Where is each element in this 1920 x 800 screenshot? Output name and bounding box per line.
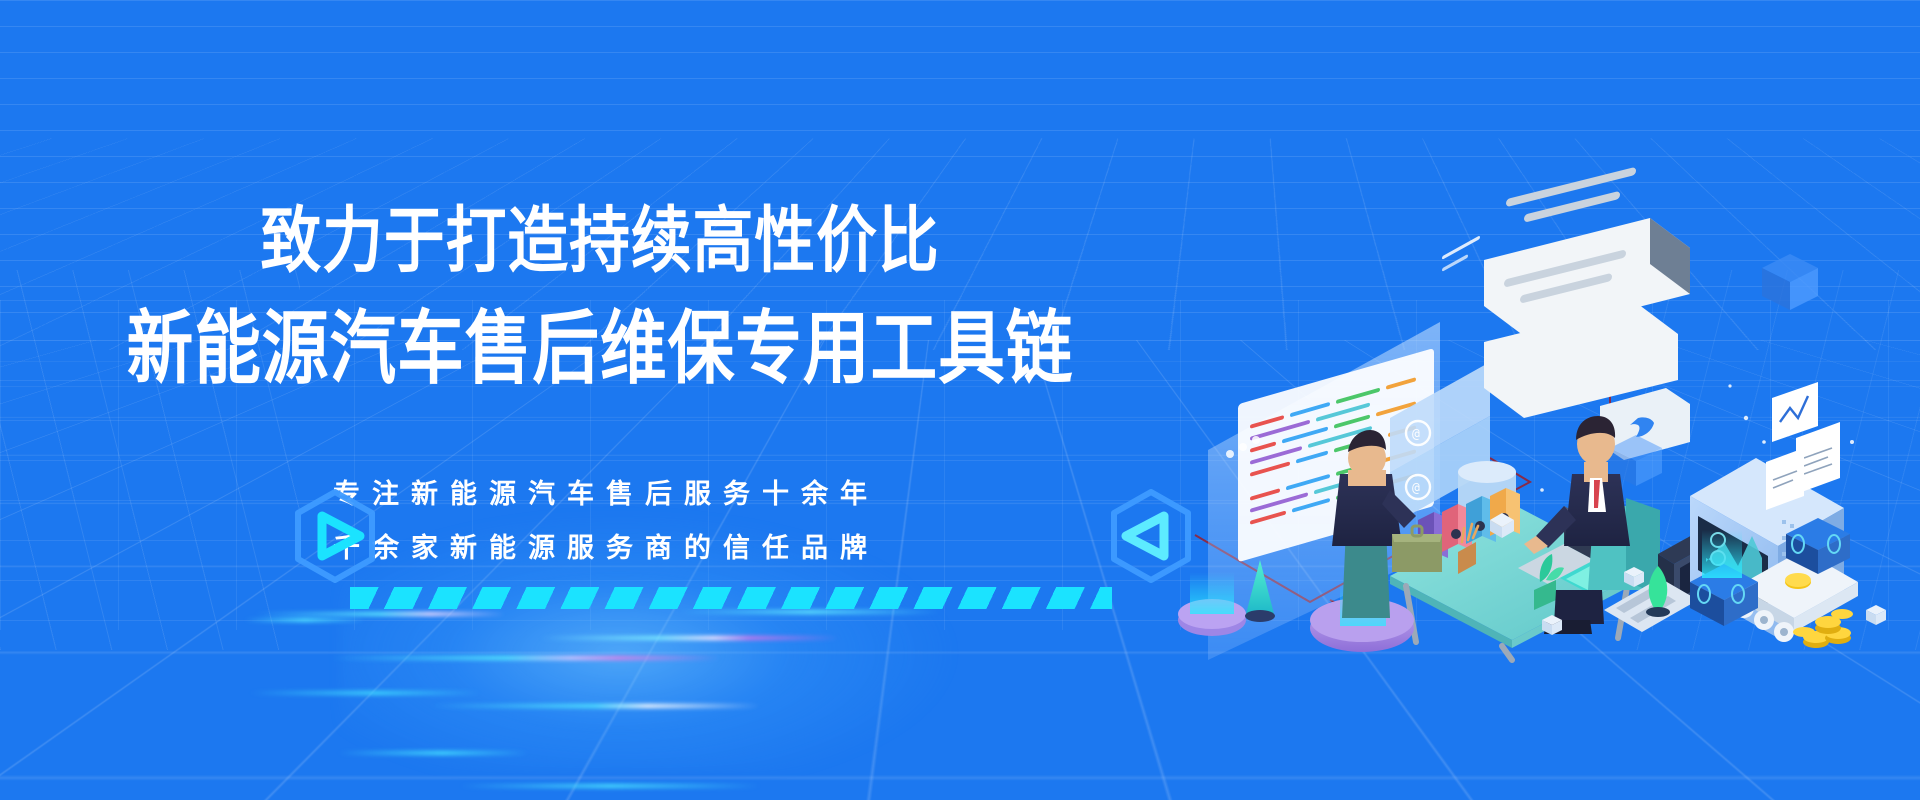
chat-bubble-card-1 bbox=[1484, 167, 1690, 336]
light-streak bbox=[338, 751, 528, 755]
play-triangle-hexagon-mirrored-icon bbox=[1108, 488, 1194, 584]
subtitle-line-2: 千余家新能源服务商的信任品牌 bbox=[0, 532, 1200, 566]
light-streak bbox=[540, 636, 840, 640]
headline-line-2: 新能源汽车售后维保专用工具链 bbox=[12, 305, 1188, 395]
light-streak bbox=[430, 704, 760, 708]
headline-line-1: 致力于打造持续高性价比 bbox=[12, 200, 1188, 281]
light-streak bbox=[255, 612, 505, 616]
hero-banner: 致力于打造持续高性价比 新能源汽车售后维保专用工具链 专注新能源汽车售后服务十余… bbox=[0, 0, 1920, 800]
subtitle-line-1: 专注新能源汽车售后服务十余年 bbox=[0, 478, 1200, 512]
play-triangle-hexagon-icon bbox=[292, 488, 378, 584]
diagonal-stripe-ribbon bbox=[350, 587, 1112, 609]
floating-cube bbox=[1866, 605, 1886, 625]
light-streak bbox=[330, 656, 720, 660]
light-streak bbox=[680, 610, 940, 614]
light-streak bbox=[250, 691, 480, 695]
svg-text:@: @ bbox=[1412, 481, 1420, 496]
light-streak bbox=[460, 784, 760, 788]
floating-cube bbox=[1762, 254, 1818, 310]
svg-text:@: @ bbox=[1412, 427, 1420, 442]
light-streak bbox=[245, 618, 365, 622]
isometric-office-illustration: @ @ bbox=[1190, 190, 1920, 660]
